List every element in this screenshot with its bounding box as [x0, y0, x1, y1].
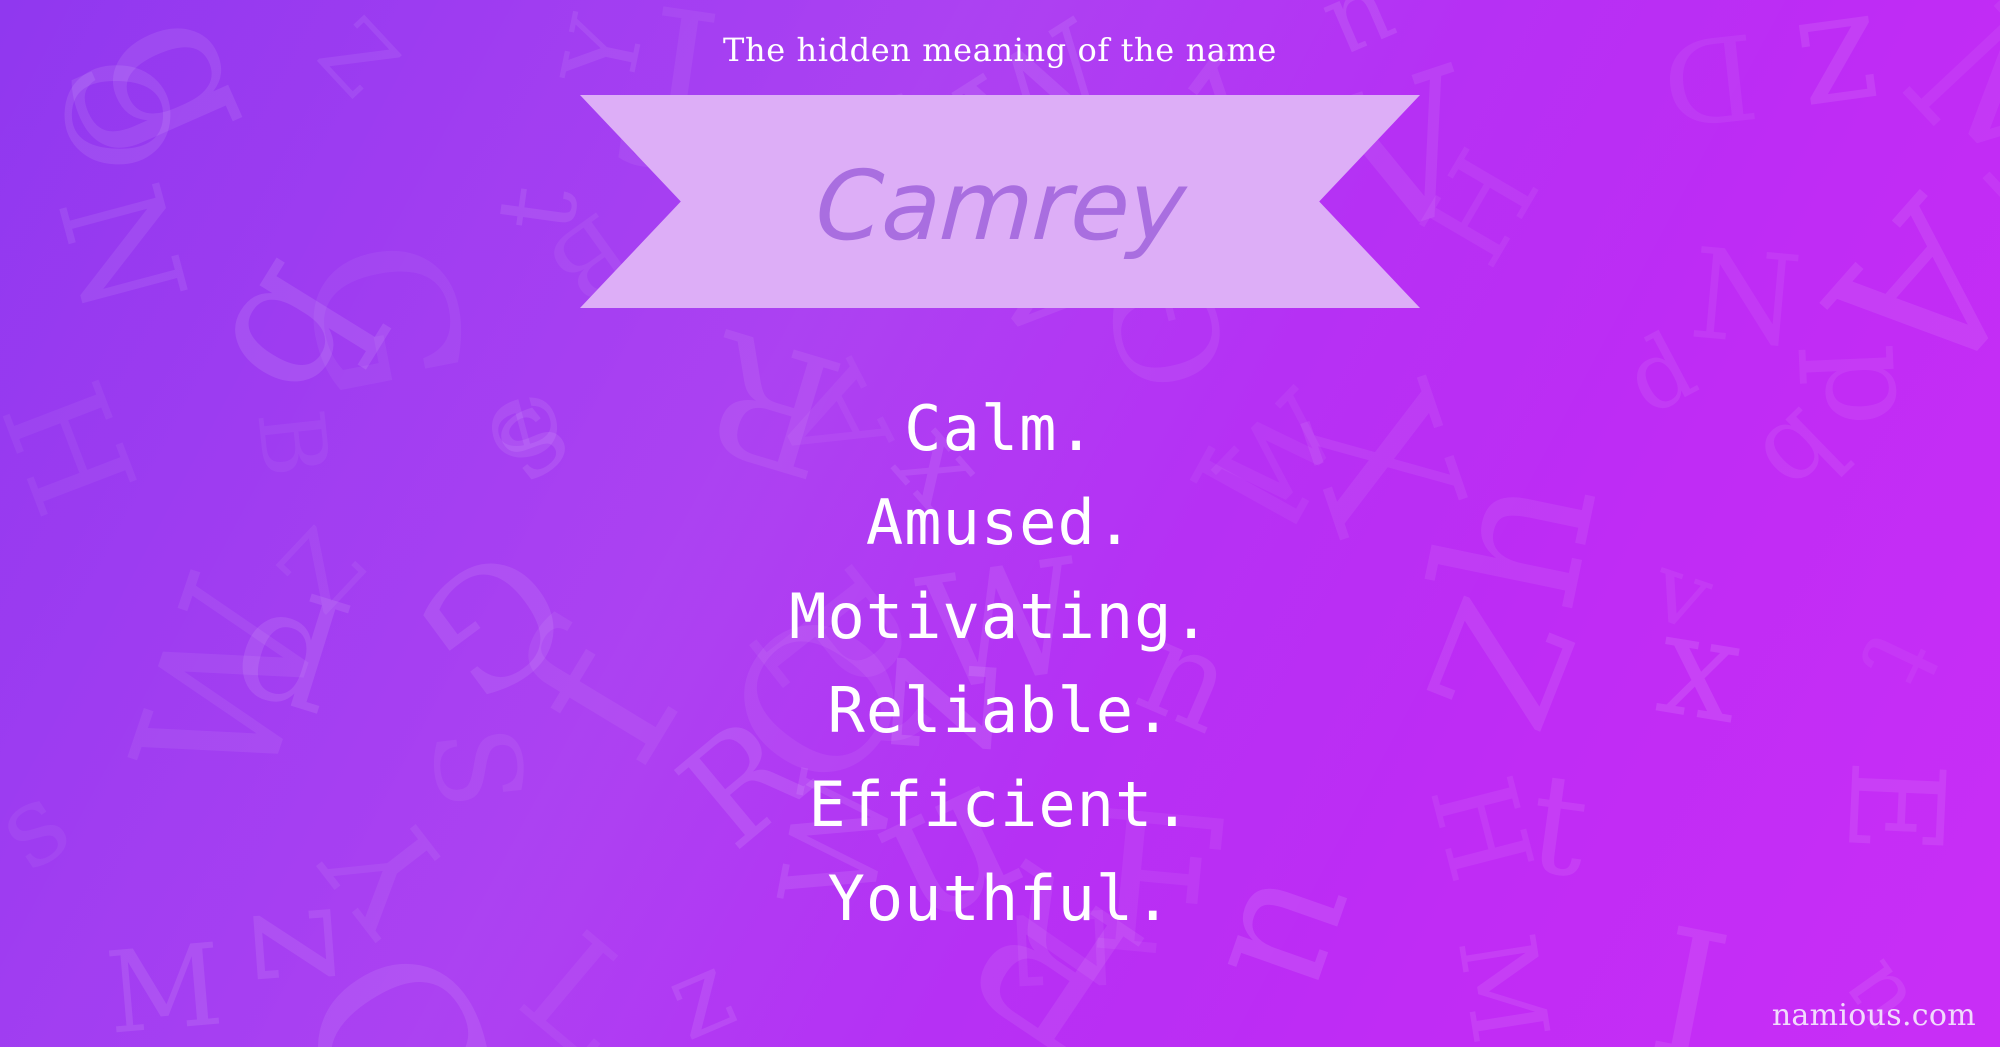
trait-line: Efficient. [0, 758, 2000, 852]
trait-line: Amused. [0, 476, 2000, 570]
trait-line: Motivating. [0, 570, 2000, 664]
name-text: Camrey [813, 158, 1187, 254]
background-letter: A [1796, 168, 2000, 416]
trait-list: Calm.Amused.Motivating.Reliable.Efficien… [0, 382, 2000, 946]
trait-line: Youthful. [0, 852, 2000, 946]
trait-line: Reliable. [0, 664, 2000, 758]
background-letter: H [1404, 133, 1558, 281]
background-letter: M [103, 929, 227, 1047]
background-letter: N [1685, 232, 1805, 366]
background-letter: t [482, 180, 595, 238]
background-letter: z [1790, 0, 1892, 155]
site-watermark: namious.com [1772, 998, 1976, 1033]
background-letter: z [652, 934, 748, 1047]
background-letter: N [35, 171, 204, 327]
background-letter: g [68, 0, 304, 177]
page-title: The hidden meaning of the name [0, 31, 2000, 69]
trait-line: Calm. [0, 382, 2000, 476]
name-meaning-card: gOZYJwWXVuDMzNGqtBDBwGHNAHBesRAxlwXhdbpW… [0, 0, 2000, 1047]
background-letter: O [49, 56, 193, 175]
name-ribbon-banner: Camrey [580, 95, 1420, 308]
